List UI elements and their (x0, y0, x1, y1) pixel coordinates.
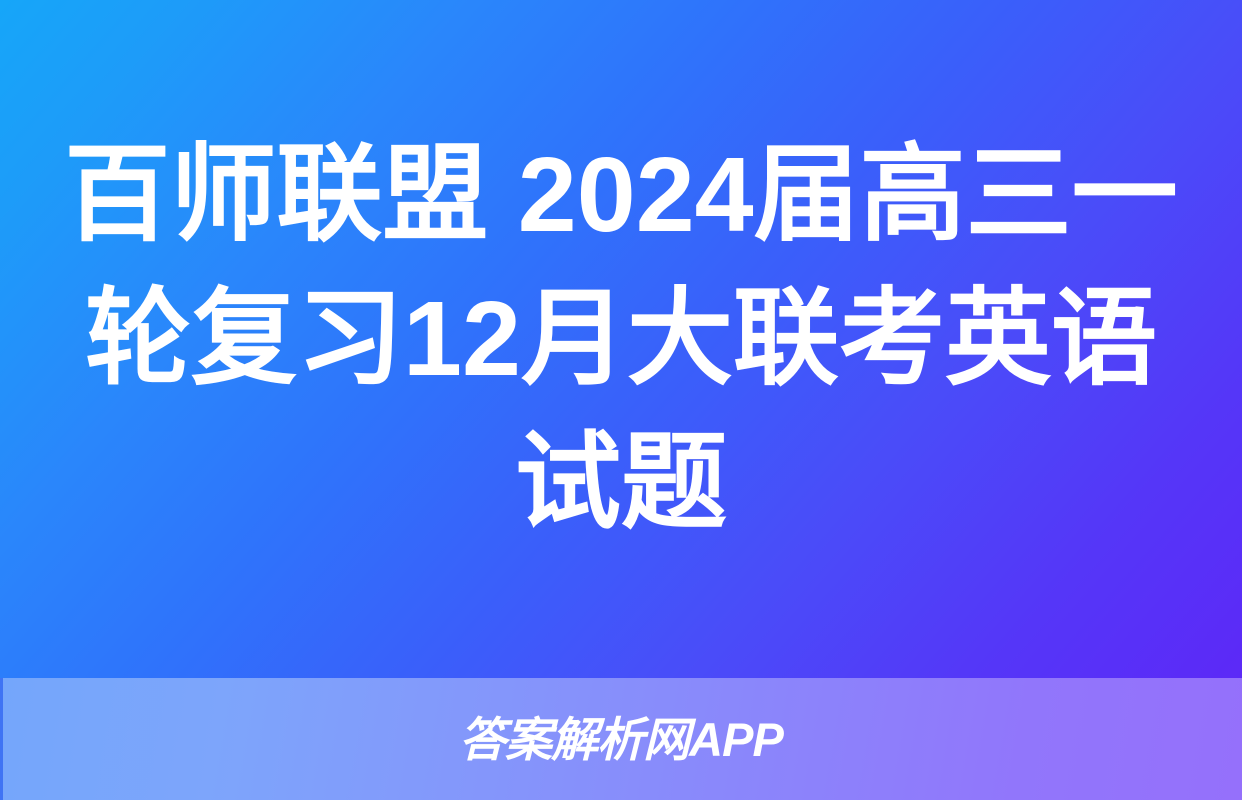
page-title: 百师联盟 2024届高三一轮复习12月大联考英语试题 (62, 123, 1180, 555)
exam-title-poster: 百师联盟 2024届高三一轮复习12月大联考英语试题 答案解析网APP (0, 0, 1242, 800)
band-left-edge-accent (0, 678, 3, 800)
watermark-band: 答案解析网APP (0, 678, 1242, 800)
hero-gradient-panel: 百师联盟 2024届高三一轮复习12月大联考英语试题 (0, 0, 1242, 678)
watermark-label: 答案解析网APP (459, 716, 783, 763)
